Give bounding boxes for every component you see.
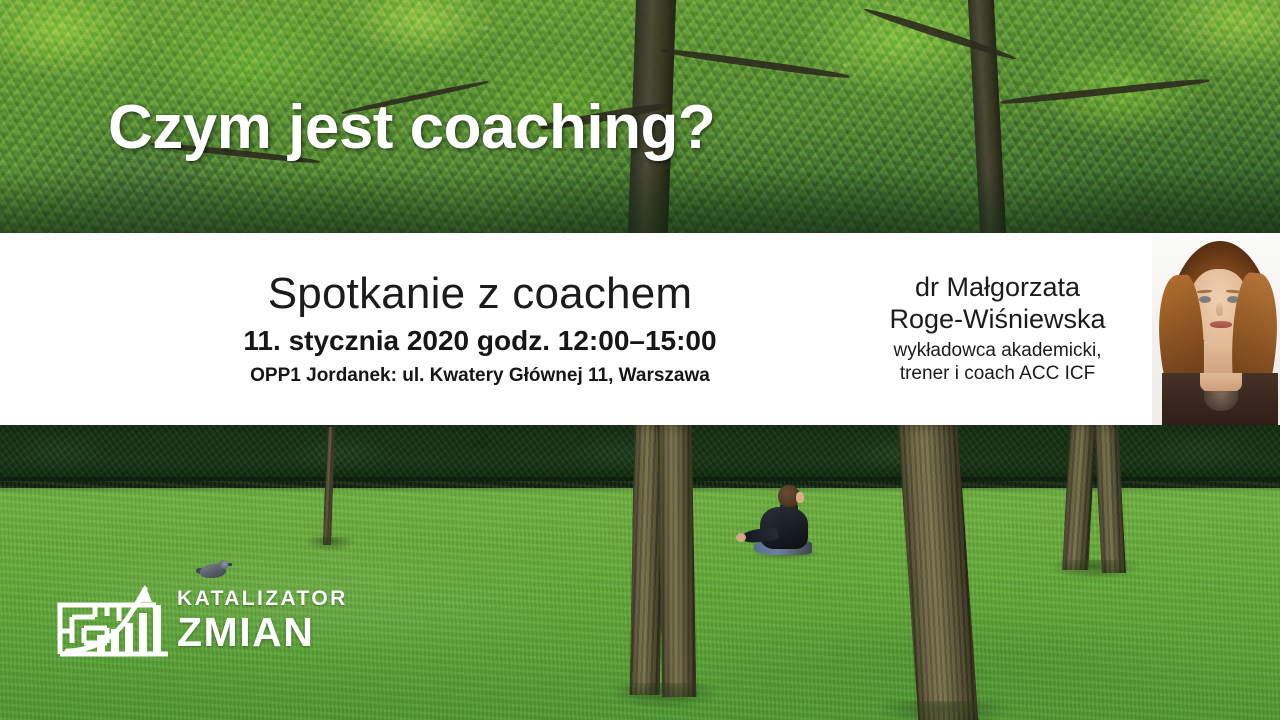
speaker-role-line2: trener i coach ACC ICF bbox=[900, 362, 1095, 386]
logo-line-1: KATALIZATOR bbox=[177, 588, 327, 609]
logo-line-2: ZMIAN bbox=[177, 612, 327, 653]
trunk-base-shadow bbox=[305, 537, 355, 551]
speaker-name-line2: Roge-Wiśniewska bbox=[889, 304, 1105, 336]
trunk-base-shadow bbox=[610, 683, 720, 709]
maze-growth-arrow-icon bbox=[55, 583, 173, 659]
logo-wordmark: KATALIZATOR ZMIAN bbox=[177, 588, 327, 653]
event-datetime: 11. stycznia 2020 godz. 12:00–15:00 bbox=[243, 323, 716, 358]
speaker-portrait-photo bbox=[1152, 233, 1280, 425]
pigeon-on-grass bbox=[196, 560, 230, 580]
portrait-necklace bbox=[1204, 391, 1238, 411]
trunk-base-shadow bbox=[1050, 560, 1140, 580]
portrait-eye bbox=[1200, 297, 1210, 302]
park-tree-trunk bbox=[658, 425, 697, 697]
pigeon-beak bbox=[228, 563, 232, 566]
canopy-bottom-shade bbox=[0, 170, 1280, 233]
man-face bbox=[796, 492, 804, 503]
page-title: Czym jest coaching? bbox=[108, 97, 715, 159]
portrait-nose bbox=[1216, 303, 1223, 316]
speaker-role-line1: wykładowca akademicki, bbox=[893, 339, 1101, 363]
speaker-name-line1: dr Małgorzata bbox=[915, 272, 1080, 304]
info-band: Spotkanie z coachem 11. stycznia 2020 go… bbox=[0, 233, 1280, 425]
brand-logo[interactable]: KATALIZATOR ZMIAN bbox=[55, 583, 325, 661]
man-hand bbox=[736, 533, 746, 542]
park-lawn-photo bbox=[0, 425, 1280, 720]
event-heading: Spotkanie z coachem bbox=[268, 269, 693, 320]
trunk-base-shadow bbox=[880, 701, 1010, 720]
event-location: OPP1 Jordanek: ul. Kwatery Głównej 11, W… bbox=[250, 364, 710, 389]
portrait-lips bbox=[1210, 321, 1232, 328]
event-details-block: Spotkanie z coachem 11. stycznia 2020 go… bbox=[0, 233, 960, 425]
man-sitting-on-grass bbox=[736, 485, 828, 557]
poster-canvas: Czym jest coaching? Spotkanie z coachem … bbox=[0, 0, 1280, 720]
speaker-info-block: dr Małgorzata Roge-Wiśniewska wykładowca… bbox=[845, 233, 1150, 425]
